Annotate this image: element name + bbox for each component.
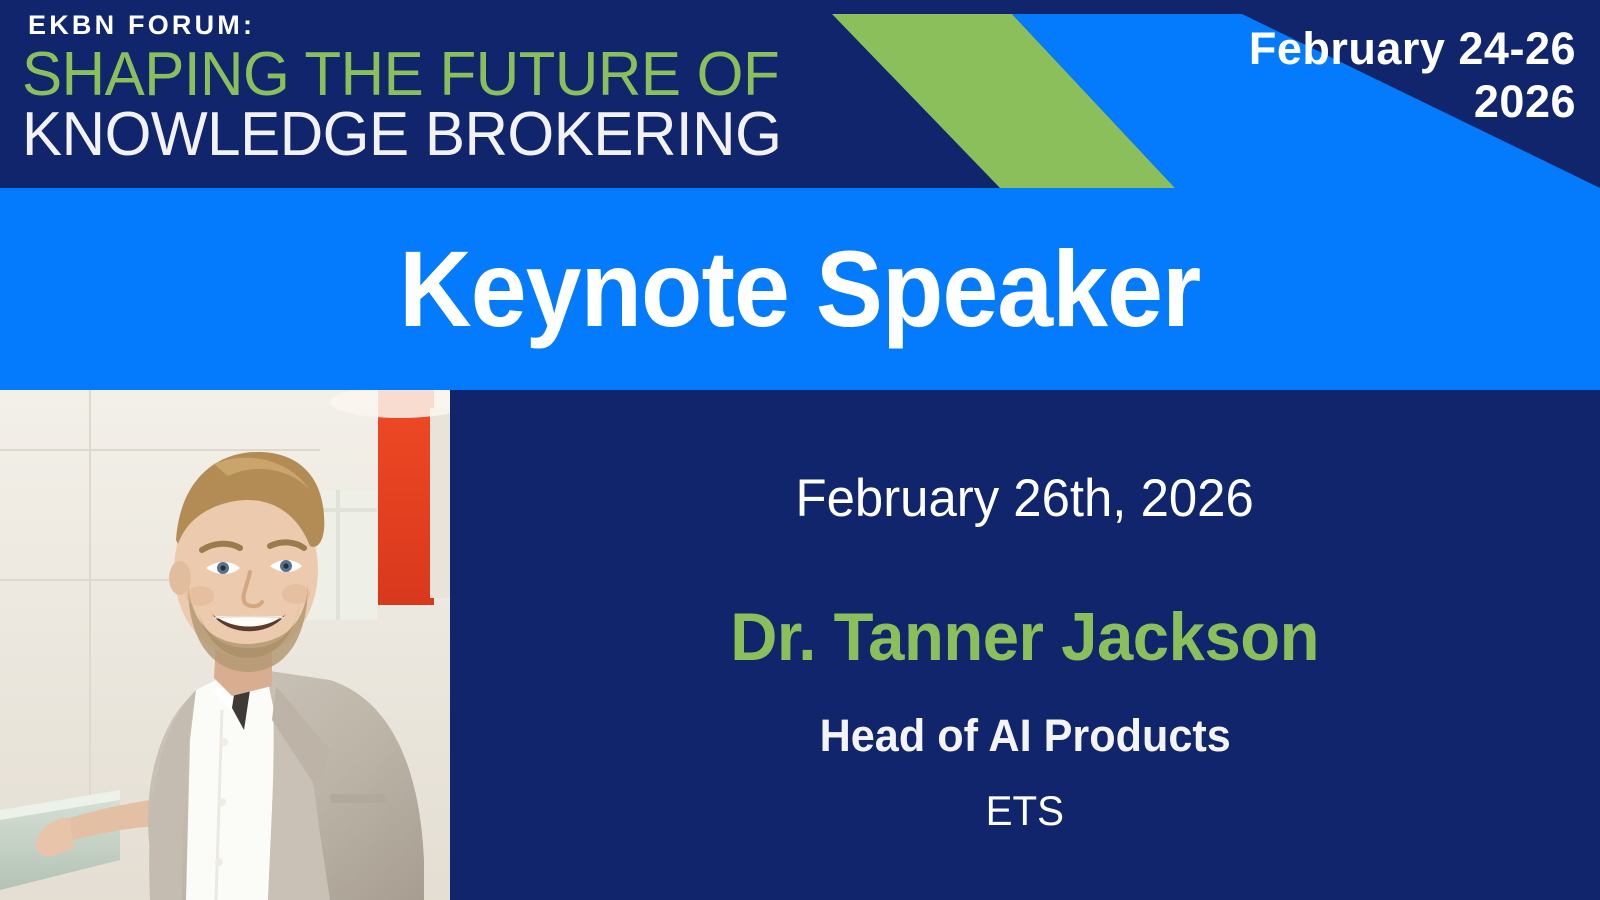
event-dates-line-two: 2026: [1249, 75, 1576, 128]
event-dates: February 24-26 2026: [1249, 22, 1576, 128]
event-dates-line-one: February 24-26: [1249, 22, 1576, 75]
speaker-role: Head of AI Products: [819, 713, 1230, 758]
speaker-photo: [0, 390, 450, 900]
speaker-portrait-illustration: [0, 390, 450, 900]
speaker-organization: ETS: [986, 790, 1064, 832]
speaker-name: Dr. Tanner Jackson: [731, 603, 1320, 671]
talk-date: February 26th, 2026: [796, 472, 1254, 525]
headline-line-one: SHAPING THE FUTURE OF: [22, 44, 779, 106]
keynote-speaker-poster: EKBN FORUM: SHAPING THE FUTURE OF KNOWLE…: [0, 0, 1600, 900]
keynote-speaker-banner: Keynote Speaker: [0, 188, 1600, 390]
speaker-details: February 26th, 2026 Dr. Tanner Jackson H…: [450, 390, 1600, 900]
banner-title: Keynote Speaker: [399, 235, 1200, 343]
forum-eyebrow-label: EKBN FORUM:: [28, 12, 255, 39]
speaker-section: February 26th, 2026 Dr. Tanner Jackson H…: [0, 390, 1600, 900]
headline-line-two: KNOWLEDGE BROKERING: [22, 104, 781, 166]
poster-header: EKBN FORUM: SHAPING THE FUTURE OF KNOWLE…: [0, 0, 1600, 188]
